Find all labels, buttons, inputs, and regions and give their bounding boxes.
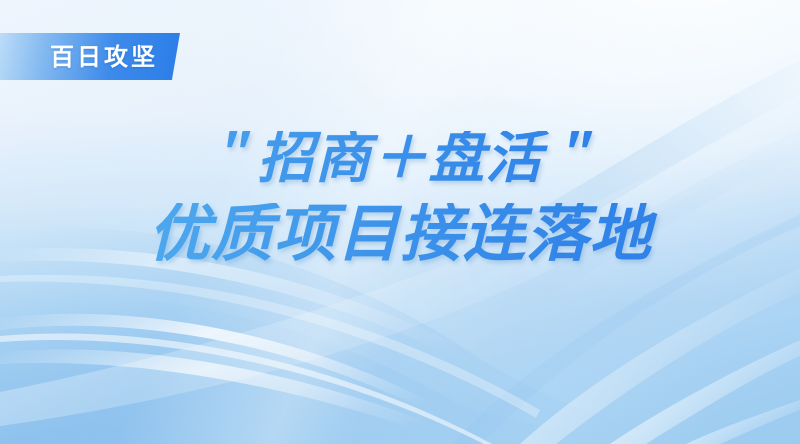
headline-line-2: 优质项目接连落地 bbox=[0, 203, 800, 265]
promo-banner: 百日攻坚 ＂招商＋盘活＂ 优质项目接连落地 bbox=[0, 0, 800, 444]
headline-line-1: ＂招商＋盘活＂ bbox=[0, 131, 800, 187]
campaign-badge-label: 百日攻坚 bbox=[50, 45, 158, 69]
campaign-badge: 百日攻坚 bbox=[0, 33, 180, 80]
headline-block: ＂招商＋盘活＂ 优质项目接连落地 bbox=[0, 131, 800, 265]
